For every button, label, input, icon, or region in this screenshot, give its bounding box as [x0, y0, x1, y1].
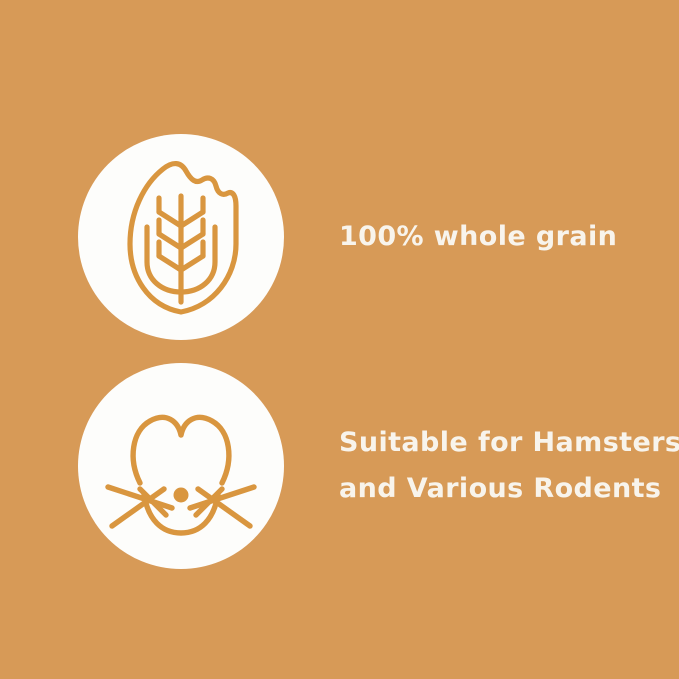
feature-row-rodent: Suitable for Hamsters and Various Rodent…: [78, 363, 679, 569]
feature-infographic: 100% whole grain: [0, 0, 679, 679]
feature-text-grain: 100% whole grain: [339, 214, 617, 260]
feature-row-grain: 100% whole grain: [78, 134, 617, 340]
feature-text-line: 100% whole grain: [339, 214, 617, 260]
whole-grain-icon: [78, 134, 284, 340]
rodent-badge-circle: [78, 363, 284, 569]
feature-text-rodent: Suitable for Hamsters and Various Rodent…: [339, 420, 679, 512]
grain-badge-circle: [78, 134, 284, 340]
feature-text-line: Suitable for Hamsters: [339, 420, 679, 466]
hamster-face-icon: [78, 363, 284, 569]
feature-text-line: and Various Rodents: [339, 466, 679, 512]
